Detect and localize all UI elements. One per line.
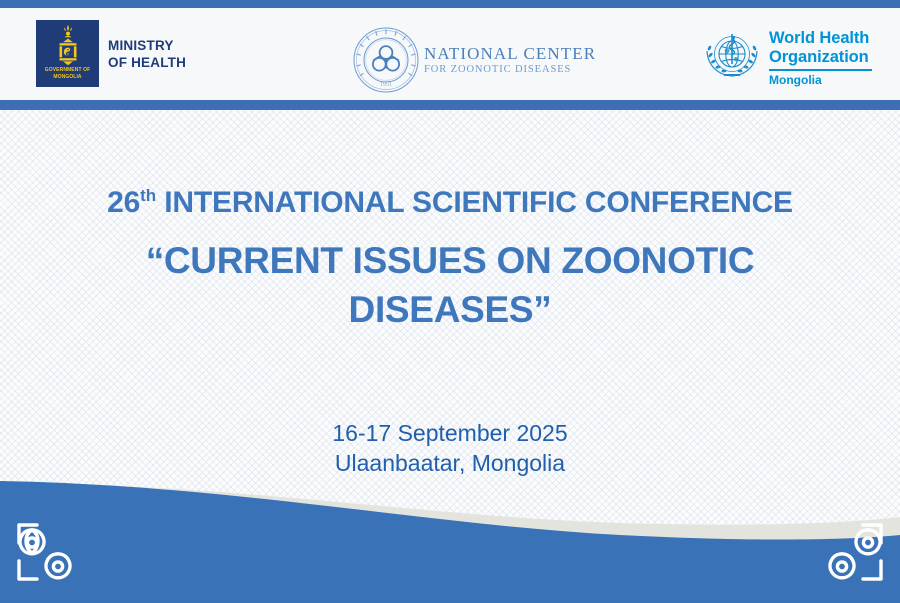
who-logo: World Health Organization Mongolia xyxy=(702,28,872,87)
national-center-logo: 1951 NATIONAL CENTER FOR ZOONOTIC DISEAS… xyxy=(352,26,596,94)
emblem-caption-line1: GOVERNMENT OF xyxy=(45,67,90,74)
conference-theme-line1: “CURRENT ISSUES ON ZOONOTIC xyxy=(55,236,845,285)
ministry-name-line2: OF HEALTH xyxy=(108,54,186,71)
slide-content: 26th INTERNATIONAL SCIENTIFIC CONFERENCE… xyxy=(0,110,900,478)
national-center-name-line1: NATIONAL CENTER xyxy=(424,44,596,63)
who-emblem-icon xyxy=(702,28,762,86)
seal-year: 1951 xyxy=(380,82,392,88)
mongolian-knot-ornament-left xyxy=(14,517,92,585)
emblem-caption: GOVERNMENT OF MONGOLIA xyxy=(45,67,90,80)
top-accent-bar xyxy=(0,0,900,8)
soyombo-icon xyxy=(51,24,85,66)
conference-heading: 26th INTERNATIONAL SCIENTIFIC CONFERENCE xyxy=(0,178,900,221)
who-name-line2: Organization xyxy=(769,48,872,67)
logo-row: GOVERNMENT OF MONGOLIA MINISTRY OF HEALT… xyxy=(0,8,900,100)
who-name: World Health Organization Mongolia xyxy=(769,28,872,87)
conference-number: 26 xyxy=(107,186,140,219)
conference-ordinal-suffix: th xyxy=(140,186,156,205)
national-center-name-line2: FOR ZOONOTIC DISEASES xyxy=(424,63,596,76)
header-divider-bar xyxy=(0,100,900,110)
conference-title-slide: GOVERNMENT OF MONGOLIA MINISTRY OF HEALT… xyxy=(0,0,900,603)
government-of-mongolia-emblem: GOVERNMENT OF MONGOLIA xyxy=(36,20,99,87)
zoonotic-seal-icon: 1951 xyxy=(352,26,420,94)
who-divider xyxy=(769,69,872,71)
footer-wave xyxy=(0,443,900,603)
who-name-line1: World Health xyxy=(769,29,872,48)
mongolian-knot-ornament-right xyxy=(808,517,886,585)
ministry-of-health-name: MINISTRY OF HEALTH xyxy=(108,37,186,71)
ministry-name-line1: MINISTRY xyxy=(108,37,186,54)
conference-theme-line2: DISEASES” xyxy=(55,285,845,334)
national-center-name: NATIONAL CENTER FOR ZOONOTIC DISEASES xyxy=(424,44,596,76)
ministry-of-health-logo: GOVERNMENT OF MONGOLIA MINISTRY OF HEALT… xyxy=(36,20,186,87)
conference-label: INTERNATIONAL SCIENTIFIC CONFERENCE xyxy=(164,186,793,219)
who-country: Mongolia xyxy=(769,73,872,87)
conference-theme: “CURRENT ISSUES ON ZOONOTIC DISEASES” xyxy=(0,236,900,334)
emblem-caption-line2: MONGOLIA xyxy=(45,74,90,81)
